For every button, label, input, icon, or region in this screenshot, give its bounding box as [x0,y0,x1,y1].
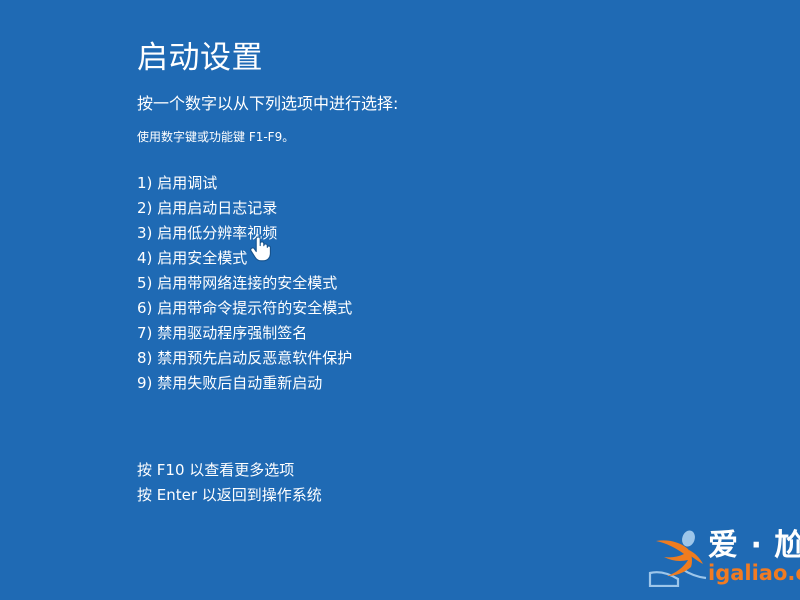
page-title: 启动设置 [137,40,737,76]
option-number: 3) [137,224,152,242]
option-label: 启用带网络连接的安全模式 [157,274,337,292]
option-item-3[interactable]: 3) 启用低分辨率视频 [137,221,737,246]
option-number: 9) [137,374,152,392]
option-label: 启用调试 [157,174,217,192]
watermark-cn-text: 爱 · 尬聊 [708,529,800,563]
option-label: 禁用预先启动反恶意软件保护 [157,349,352,367]
more-options-action[interactable]: 按 F10 以查看更多选项 [137,458,737,483]
option-label: 禁用驱动程序强制签名 [157,324,307,342]
option-number: 1) [137,174,152,192]
option-label: 启用启动日志记录 [157,199,277,217]
startup-settings-screen: 启动设置 按一个数字以从下列选项中进行选择: 使用数字键或功能键 F1-F9。 … [0,0,800,600]
option-number: 6) [137,299,152,317]
running-figure-logo-icon [648,529,710,587]
subtitle-instruction: 按一个数字以从下列选项中进行选择: [137,94,737,114]
option-label: 启用低分辨率视频 [157,224,277,242]
option-item-1[interactable]: 1) 启用调试 [137,171,737,196]
option-number: 5) [137,274,152,292]
watermark-url-text: igaliao.com [708,561,800,585]
option-item-2[interactable]: 2) 启用启动日志记录 [137,196,737,221]
option-item-5[interactable]: 5) 启用带网络连接的安全模式 [137,271,737,296]
option-label: 启用安全模式 [157,249,247,267]
footer-actions: 按 F10 以查看更多选项 按 Enter 以返回到操作系统 [137,458,737,508]
startup-options-list: 1) 启用调试 2) 启用启动日志记录 3) 启用低分辨率视频 4) 启用安全模… [137,171,737,396]
return-to-os-action[interactable]: 按 Enter 以返回到操作系统 [137,483,737,508]
option-item-4[interactable]: 4) 启用安全模式 [137,246,737,271]
option-item-8[interactable]: 8) 禁用预先启动反恶意软件保护 [137,346,737,371]
option-item-7[interactable]: 7) 禁用驱动程序强制签名 [137,321,737,346]
content-area: 启动设置 按一个数字以从下列选项中进行选择: 使用数字键或功能键 F1-F9。 … [137,40,737,396]
option-item-9[interactable]: 9) 禁用失败后自动重新启动 [137,371,737,396]
option-number: 7) [137,324,152,342]
option-item-6[interactable]: 6) 启用带命令提示符的安全模式 [137,296,737,321]
option-number: 8) [137,349,152,367]
option-number: 4) [137,249,152,267]
keyboard-hint-text: 使用数字键或功能键 F1-F9。 [137,129,737,145]
site-watermark: 爱 · 尬聊 igaliao.com [648,527,800,591]
option-number: 2) [137,199,152,217]
option-label: 禁用失败后自动重新启动 [157,374,322,392]
option-label: 启用带命令提示符的安全模式 [157,299,352,317]
